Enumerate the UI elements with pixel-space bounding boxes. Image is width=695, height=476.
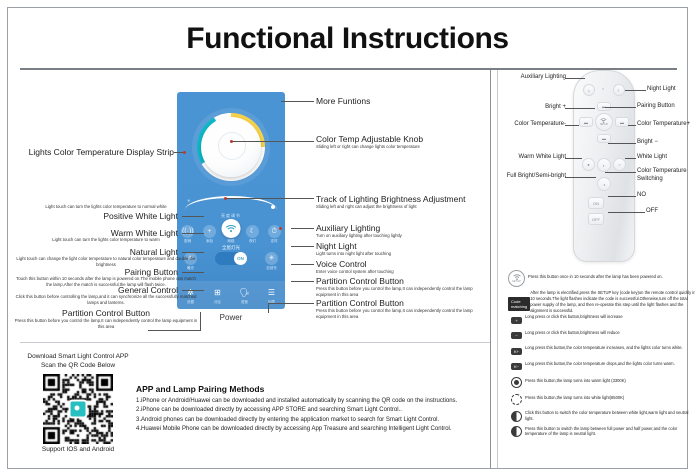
leader-line — [608, 143, 636, 144]
remote-label-full-half-bright: Full Bright/Semi-bright — [494, 173, 566, 179]
power-callout-label: Power — [191, 313, 271, 322]
phone-icon-caption: 自然光 — [266, 266, 277, 271]
column-divider-secondary — [497, 70, 498, 468]
cct-up-key-icon: K+ — [508, 345, 525, 357]
leader-dot — [183, 151, 186, 154]
legend-text: Long press this button,the color tempera… — [525, 361, 675, 367]
plus-circle-icon: + — [203, 225, 216, 238]
general-control-button[interactable] — [222, 219, 241, 238]
callout-title: Positive White Light — [14, 211, 178, 221]
bright-up-key-icon: + — [508, 314, 525, 326]
callout-title: Partition Control Button — [316, 276, 492, 286]
remote-label-bright-down: Bright − — [637, 139, 658, 145]
remote-label-auxiliary-lighting: Auxiliary Lighting — [506, 74, 566, 80]
callout-desc: Turn on auxiliary lighting after touchin… — [316, 233, 492, 239]
dial-knob-inner — [218, 132, 246, 160]
leader-line — [182, 272, 204, 273]
navbar-item-partition[interactable]: ⊞ 分区 — [210, 286, 226, 305]
navbar-item-caption: 语音 — [241, 300, 248, 305]
legend-text: Long press or click this button,brightne… — [525, 330, 620, 336]
remote-indicator-led — [602, 88, 604, 90]
legend-text: Long press this button,the color tempera… — [525, 345, 683, 351]
qr-line1: Download Smart Light Control APP — [22, 352, 134, 361]
leader-line — [625, 90, 646, 91]
callout-title: Partition Control Button — [316, 298, 492, 308]
callout-partition-right-1: Partition Control Button Press this butt… — [316, 276, 492, 298]
general-control-label: 全屋灯光 — [177, 245, 285, 251]
legend-text: Press this button to switch the lamp bet… — [525, 426, 695, 438]
callout-desc: Click this button before controlling the… — [14, 294, 198, 306]
legend-text: Press this button,the lamp turns into wa… — [525, 376, 626, 384]
remote-off-label: OFF — [592, 217, 600, 222]
pairing-methods-block: APP and Lamp Pairing Methods 1.iPhone or… — [136, 384, 488, 434]
power-toggle-knob[interactable]: ON — [234, 252, 247, 265]
remote-full-half-bright-button[interactable]: ◑ — [597, 177, 611, 191]
leader-line — [608, 212, 645, 213]
qr-support-text: Support IOS and Android — [22, 446, 134, 453]
navbar-item-voice[interactable]: 🗣 语音 — [237, 286, 253, 305]
callout-color-temp-knob: Color Temp Adjustable Knob Sliding left … — [316, 134, 486, 150]
remote-label-bright-up: Bright + — [506, 104, 566, 110]
callout-desc: Light touch can turn the lights color te… — [14, 204, 198, 210]
legend-row: Press this button to switch the lamp bet… — [508, 426, 695, 438]
callout-title: Track of Lighting Brightness Adjustment — [316, 194, 494, 204]
callout-general-control-desc: Click this button before controlling the… — [14, 294, 198, 306]
callout-warm-white-desc: Light touch can turn the lights color te… — [14, 237, 198, 243]
code-badge-wrap: Code matching — [508, 290, 530, 313]
legend-row: K Click this button to switch the color … — [508, 410, 695, 422]
brightness-handle[interactable] — [271, 205, 275, 209]
natural-light-icon: ✳ — [265, 252, 278, 265]
pairing-heading: APP and Lamp Pairing Methods — [136, 384, 488, 394]
remote-bright-down-button[interactable]: ▬ — [597, 134, 611, 143]
wifi-big-icon — [226, 224, 237, 233]
legend-row: Press this button,the lamp turns into wh… — [508, 393, 695, 405]
setup-note-line1: Press this button once in 10 seconds aft… — [528, 270, 663, 280]
moon-icon: ☾ — [246, 225, 259, 238]
leader-line — [565, 177, 596, 178]
navbar-item-list[interactable]: ☰ 列表 — [264, 286, 280, 305]
legend-text: Press this button,the lamp turns into wh… — [525, 393, 624, 401]
callout-desc: Sliding left or right can change lights … — [316, 144, 486, 150]
legend-row: − Long press or click this button,bright… — [508, 330, 695, 342]
brightness-tick-icon: ☀ — [187, 198, 191, 203]
leader-line — [182, 216, 204, 217]
leader-line — [565, 125, 579, 126]
remote-label-on: NO — [637, 192, 646, 198]
color-temp-dial[interactable] — [192, 108, 270, 186]
remote-label-cct-down: Color Temperature- — [501, 121, 566, 127]
qr-center-logo — [69, 399, 88, 418]
voice-icon: 🗣 — [238, 286, 251, 299]
callout-normal-white-desc: Light touch can turn the lights color te… — [14, 204, 198, 210]
remote-off-button[interactable]: OFF — [588, 213, 604, 225]
qr-line2: Scan the QR Code Below — [22, 361, 134, 370]
phone-icon-natural-light[interactable]: ✳ 自然光 — [264, 252, 280, 271]
remote-warm-white-button[interactable]: ● — [582, 158, 595, 171]
callout-title: Lights Color Temperature Display Strip — [14, 147, 174, 157]
remote-on-label: ON — [593, 201, 599, 206]
setup-icon-label: SETUP — [512, 280, 521, 283]
callout-title: Voice Control — [316, 259, 492, 269]
callout-night-light: Night Light Light turns into night light… — [316, 241, 492, 257]
leader-line — [148, 330, 200, 331]
leader-dot — [279, 227, 282, 230]
remote-label-night-light: Night Light — [647, 86, 676, 92]
legend-row: K+ Long press this button,the color temp… — [508, 345, 695, 357]
leader-line — [291, 228, 314, 229]
page-title: Functional Instructions — [8, 22, 687, 56]
legend-row: + Long press or click this button,bright… — [508, 314, 695, 326]
remote-pairing-button[interactable]: SETUP — [595, 113, 613, 131]
leader-line — [605, 107, 636, 108]
callout-desc: Sliding left and right can adjust the br… — [316, 204, 494, 210]
instruction-sheet: Functional Instructions plus-icon ☀ 亮度调节 — [0, 0, 695, 476]
leader-line — [565, 158, 582, 159]
callout-desc: Press this button before you control the… — [14, 318, 198, 330]
callout-brightness-track: Track of Lighting Brightness Adjustment … — [316, 194, 494, 210]
remote-label-off: OFF — [646, 208, 658, 214]
remote-setup-label: SETUP — [600, 123, 608, 126]
remote-label-pairing-button: Pairing Button — [637, 103, 675, 109]
callout-desc: Light touch can turn the lights color te… — [14, 237, 198, 243]
remote-auxiliary-lighting-button[interactable]: ☼ — [583, 84, 595, 96]
callout-partition-right-2: Partition Control Button Press this butt… — [316, 298, 492, 320]
leader-line — [182, 252, 204, 253]
navbar-item-caption: 分区 — [214, 300, 221, 305]
leader-line — [625, 158, 636, 159]
callout-voice-control: Voice Control Enter voice control system… — [316, 259, 492, 275]
callout-title: Partition Control Button — [14, 308, 198, 318]
legend-row: K− Long press this button,the color temp… — [508, 361, 695, 373]
setup-note-row: SETUP Press this button once in 10 secon… — [508, 270, 695, 287]
leader-line — [182, 290, 204, 291]
leader-dot — [230, 140, 233, 143]
button-legend-list: + Long press or click this button,bright… — [508, 314, 695, 441]
legend-text: Click this button to switch the color te… — [525, 410, 695, 422]
remote-control-diagram: ☼ ☾ ▬ ▬ SETUP ▬ ▬ ● ◐ ○ ◑ ON OFF — [573, 70, 633, 260]
callout-desc: Light touch can change the light color t… — [14, 256, 198, 268]
code-matching-badge: Code matching — [508, 297, 530, 311]
legend-row: Press this button,the lamp turns into wa… — [508, 376, 695, 388]
callout-title: Night Light — [316, 241, 492, 251]
list-item: 3.Android phones can be downloaded direc… — [136, 416, 488, 425]
cct-switch-key-icon: K — [508, 410, 525, 422]
list-item: 1.iPhone or Android/Huawei can be downlo… — [136, 397, 488, 406]
callout-desc: Enter voice control system after touchin… — [316, 269, 492, 275]
remote-cct-up-button[interactable]: ▬ — [615, 117, 629, 127]
setup-icon-wrap: SETUP — [508, 270, 528, 287]
setup-note-row-2: Code matching After the lamp is electrif… — [508, 290, 695, 314]
callout-desc: Light turns into night light after touch… — [316, 251, 492, 257]
leader-line — [605, 172, 636, 173]
left-section-divider — [20, 342, 490, 343]
remote-night-light-button[interactable]: ☾ — [613, 84, 625, 96]
leader-line-vertical — [200, 312, 201, 331]
callout-partition-left: Partition Control Button Press this butt… — [14, 308, 198, 330]
remote-cct-switch-button[interactable]: ◐ — [597, 158, 611, 172]
leader-line — [628, 125, 636, 126]
remote-label-cct-switch: Color Temperature Switching — [637, 168, 695, 183]
remote-on-button[interactable]: ON — [588, 197, 604, 209]
callout-title: More Funtions — [316, 96, 370, 106]
leader-line — [291, 281, 314, 282]
qr-download-block: Download Smart Light Control APP Scan th… — [22, 352, 134, 453]
qr-code — [43, 374, 113, 444]
list-item: 4.Huawei Mobile Phone can be downloaded … — [136, 425, 488, 434]
list-icon: ☰ — [265, 286, 278, 299]
callout-title: Auxiliary Lighting — [316, 223, 492, 233]
leader-line — [232, 141, 314, 142]
callout-natural-light-desc: Light touch can change the light color t… — [14, 256, 198, 268]
setup-note-line2: After the lamp is electrified,press the … — [530, 290, 695, 314]
leader-dot — [224, 197, 227, 200]
leader-line — [291, 246, 314, 247]
callout-more-functions: More Funtions — [316, 96, 370, 106]
remote-cct-down-button[interactable]: ▬ — [579, 117, 593, 127]
callout-positive-white-light: Positive White Light — [14, 211, 178, 221]
partition-icon: ⊞ — [211, 286, 224, 299]
leader-line-vertical — [268, 303, 269, 313]
callout-title: Color Temp Adjustable Knob — [316, 134, 486, 144]
callout-auxiliary-lighting: Auxiliary Lighting Turn on auxiliary lig… — [316, 223, 492, 239]
remote-white-light-button[interactable]: ○ — [613, 158, 626, 171]
remote-label-warm-white: Warm White Light — [503, 154, 566, 160]
pairing-list: 1.iPhone or Android/Huawei can be downlo… — [136, 397, 488, 434]
half-power-key-icon — [508, 426, 525, 438]
remote-label-cct-up: Color Temperature+ — [637, 121, 690, 127]
warm-light-key-icon — [508, 376, 525, 388]
white-light-key-icon — [508, 393, 525, 405]
legend-text: Long press or click this button,brightne… — [525, 314, 623, 320]
callout-desc: Press this button before you control the… — [316, 286, 492, 298]
list-item: 2.iPhone can be downloaded directly by a… — [136, 406, 488, 415]
dial-knob[interactable] — [201, 117, 261, 177]
callout-color-temp-strip: Lights Color Temperature Display Strip — [14, 147, 174, 157]
leader-line — [268, 303, 314, 304]
bright-down-key-icon: − — [508, 330, 525, 342]
leader-line — [226, 198, 314, 199]
leader-line — [565, 78, 585, 79]
sheet-frame: Functional Instructions plus-icon ☀ 亮度调节 — [7, 7, 688, 469]
leader-line — [608, 196, 636, 197]
leader-line — [565, 108, 595, 109]
power-toggle[interactable]: ON — [215, 252, 247, 265]
remote-label-white-light: White Light — [637, 154, 667, 160]
leader-line — [281, 101, 314, 102]
cct-down-key-icon: K− — [508, 361, 525, 373]
setup-icon: SETUP — [508, 270, 525, 287]
leader-line — [182, 233, 204, 234]
callout-desc: Press this button before you control the… — [316, 308, 492, 320]
setup-note-block: SETUP Press this button once in 10 secon… — [508, 270, 695, 317]
leader-line — [291, 264, 314, 265]
